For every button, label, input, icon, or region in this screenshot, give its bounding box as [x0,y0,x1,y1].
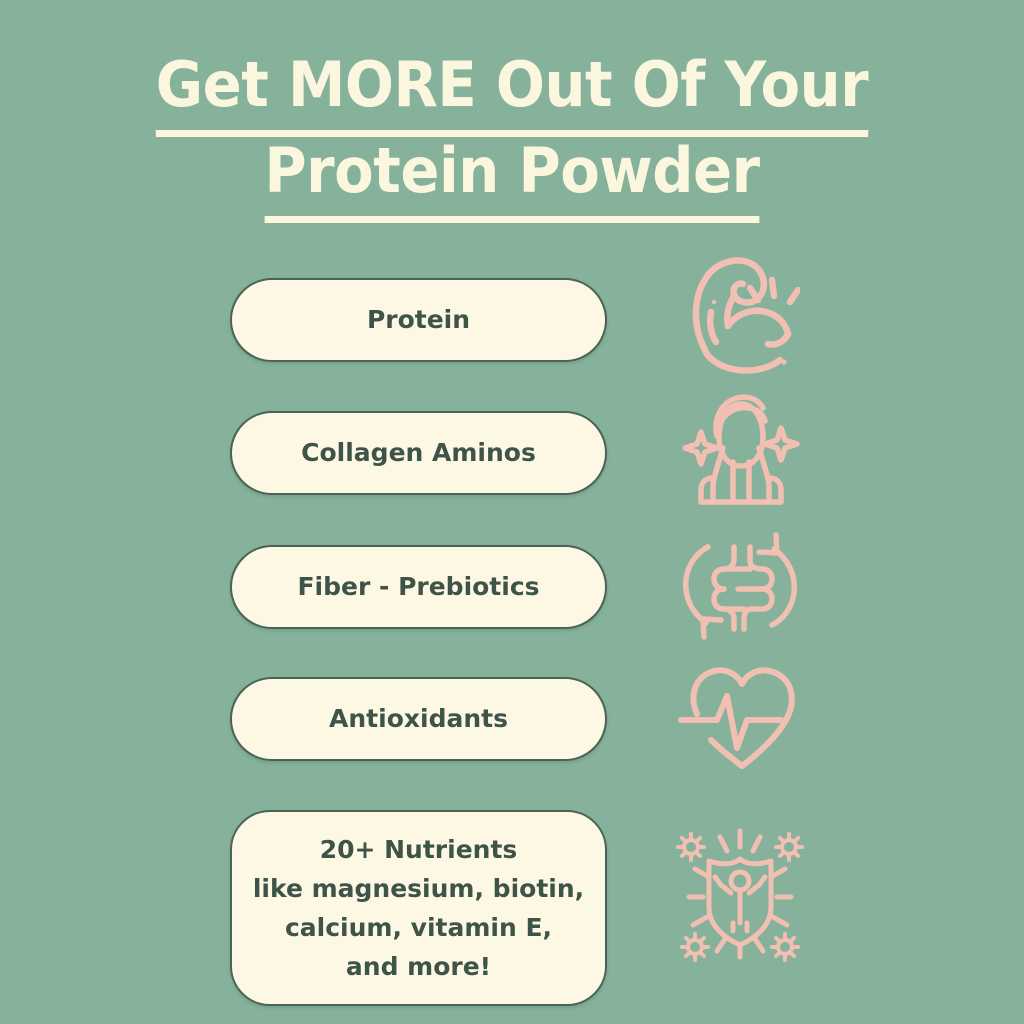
benefit-row-collagen: Collagen Aminos [0,411,1024,495]
benefit-label: Protein [353,302,484,338]
page-title: Get MORE Out Of Your Protein Powder [0,42,1024,214]
poster-canvas: Get MORE Out Of Your Protein Powder Prot… [0,0,1024,1024]
flexing-bicep-icon [655,250,825,380]
benefit-row-antioxidants: Antioxidants [0,677,1024,761]
benefit-card-nutrients[interactable]: 20+ Nutrients like magnesium, biotin, ca… [230,810,607,1006]
title-line-2: Protein Powder [36,128,988,214]
benefit-label: Antioxidants [315,701,522,737]
benefit-pill-fiber-prebiotics[interactable]: Fiber - Prebiotics [230,545,607,629]
benefit-row-nutrients: 20+ Nutrients like magnesium, biotin, ca… [0,810,1024,1006]
immunity-shield-person-icon [655,822,825,972]
title-line-1: Get MORE Out Of Your [36,42,988,128]
woman-hair-towel-sparkle-icon [655,388,825,516]
title-line-2-text: Protein Powder [264,134,759,223]
benefit-label: Collagen Aminos [287,435,550,471]
benefit-label: Fiber - Prebiotics [283,569,553,605]
heart-heartbeat-icon [655,656,825,784]
benefit-row-fiber: Fiber - Prebiotics [0,545,1024,629]
benefit-row-protein: Protein [0,278,1024,362]
gut-intestine-refresh-icon [655,522,825,650]
benefit-pill-protein[interactable]: Protein [230,278,607,362]
benefit-pill-antioxidants[interactable]: Antioxidants [230,677,607,761]
benefit-pill-collagen-aminos[interactable]: Collagen Aminos [230,411,607,495]
title-line-1-text: Get MORE Out Of Your [156,48,868,137]
benefit-label: 20+ Nutrients like magnesium, biotin, ca… [239,830,598,986]
